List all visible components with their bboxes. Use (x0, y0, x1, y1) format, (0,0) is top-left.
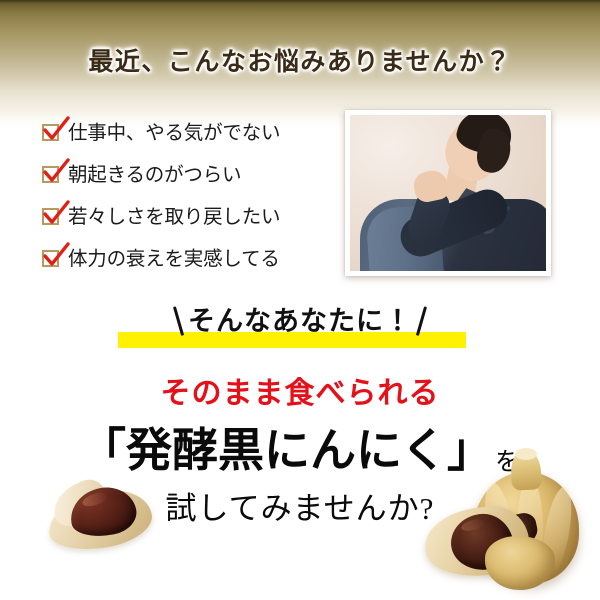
checkbox-checked-icon (42, 124, 59, 141)
problem-checklist: 仕事中、やる気がでない 朝起きるのがつらい 若々しさを取り戻したい (42, 118, 342, 286)
highlight-text: そんなあなたに！ (188, 306, 412, 336)
black-garlic-clove-left (48, 474, 156, 556)
photo-image (350, 115, 546, 271)
page-title: 最近、こんなお悩みありませんか？ (0, 42, 600, 78)
checkbox-checked-icon (42, 250, 59, 267)
list-item-label: 体力の衰えを実感してる (68, 244, 280, 274)
check-mark-icon (42, 201, 70, 227)
checkbox-checked-icon (42, 208, 59, 225)
check-mark-icon (42, 243, 70, 269)
tired-man-photo (345, 110, 551, 276)
left-slash-icon (173, 306, 184, 336)
list-item-label: 仕事中、やる気がでない (68, 118, 280, 148)
list-item: 若々しさを取り戻したい (42, 202, 342, 244)
list-item: 仕事中、やる気がでない (42, 118, 342, 160)
highlight-headline: そんなあなたに！ (0, 296, 600, 354)
list-item-label: 若々しさを取り戻したい (68, 202, 280, 232)
list-item: 朝起きるのがつらい (42, 160, 342, 202)
advertisement-banner: 最近、こんなお悩みありませんか？ 仕事中、やる気がでない 朝起きるのがつらい (0, 0, 600, 600)
list-item: 体力の衰えを実感してる (42, 244, 342, 286)
check-mark-icon (42, 159, 70, 185)
right-slash-icon (416, 306, 427, 336)
checkbox-checked-icon (42, 166, 59, 183)
garlic-bulb-neck-top (515, 448, 537, 460)
check-mark-icon (42, 117, 70, 143)
promo-red-line: そのまま食べられる (0, 368, 600, 412)
highlight-text-row: そんなあなたに！ (0, 296, 600, 346)
black-garlic-bulb-right (425, 448, 585, 596)
list-item-label: 朝起きるのがつらい (68, 160, 241, 190)
